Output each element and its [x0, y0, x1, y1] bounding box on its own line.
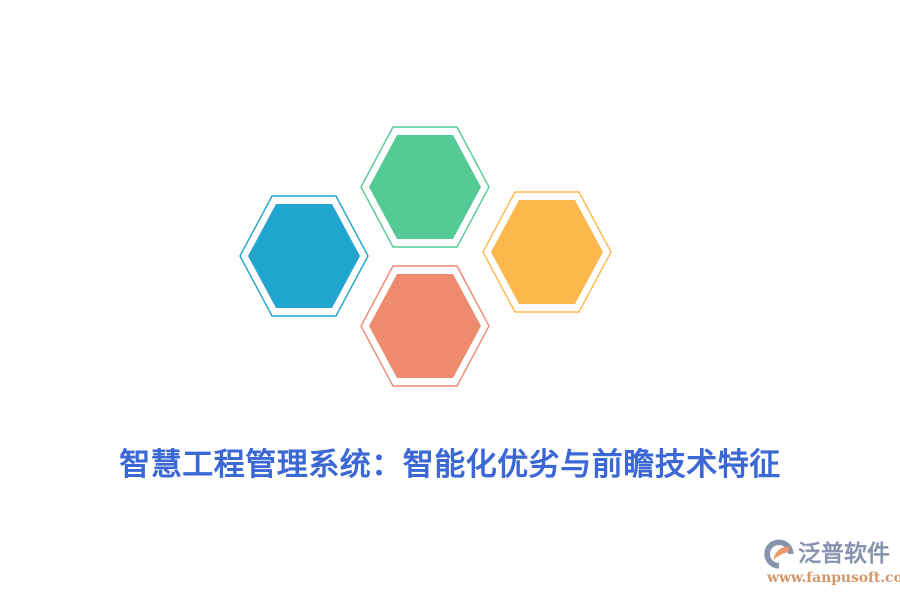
hexagon-salmon-fill: [369, 274, 481, 378]
hexagon-blue: [240, 196, 368, 316]
fanpu-logo-icon: [762, 537, 796, 571]
hexagon-blue-fill: [248, 204, 360, 308]
page-title: 智慧工程管理系统：智能化优劣与前瞻技术特征: [0, 443, 900, 487]
brand-logo-row: 泛普软件: [762, 536, 894, 572]
brand-logo-url: www.fanpusoft.com: [767, 570, 894, 586]
hexagon-green-fill: [369, 135, 481, 239]
hexagon-green: [361, 127, 489, 247]
hexagon-cluster-graphic: [0, 0, 900, 440]
hexagon-orange-fill: [491, 200, 603, 304]
brand-logo-name: 泛普软件: [798, 537, 890, 571]
brand-logo: 泛普软件 www.fanpusoft.com: [762, 536, 894, 592]
hexagon-orange: [483, 192, 611, 312]
slide-canvas: 智慧工程管理系统：智能化优劣与前瞻技术特征 泛普软件 www.fanpusoft…: [0, 0, 900, 600]
hexagon-salmon: [361, 266, 489, 386]
